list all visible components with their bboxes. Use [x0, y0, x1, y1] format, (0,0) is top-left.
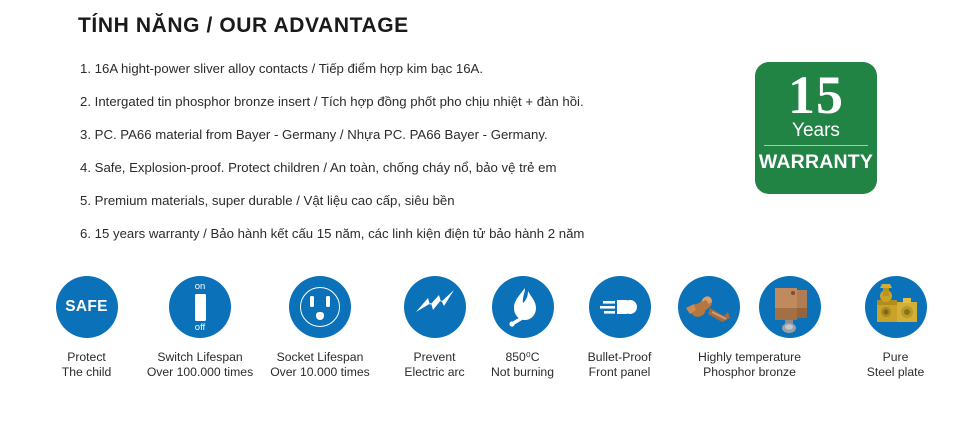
warranty-badge: 15 Years WARRANTY — [755, 62, 877, 194]
icon-caption-line2: The child — [24, 365, 149, 380]
icon-caption-line1: Protect — [24, 350, 149, 365]
socket-slot-right — [326, 296, 330, 307]
socket-ring — [300, 287, 340, 327]
brass-terminal-photo-icon — [865, 276, 927, 338]
icon-caption-line1: Highly temperature — [672, 350, 827, 365]
feature-icon-pure-steel-plate: Pure Steel plate — [838, 276, 953, 380]
feature-icon-socket-lifespan: Socket Lifespan Over 10.000 times — [255, 276, 385, 380]
power-socket-icon — [289, 276, 351, 338]
phosphor-bronze-photo-right — [759, 276, 821, 338]
warranty-label: WARRANTY — [759, 151, 873, 174]
flame-match-glyph — [492, 276, 554, 338]
icon-caption-line2: Over 10.000 times — [255, 365, 385, 380]
bullet-glyph — [589, 276, 651, 338]
flame-match-icon — [492, 276, 554, 338]
warranty-years-number: 15 — [788, 68, 844, 123]
icon-caption-line1: Pure — [838, 350, 953, 365]
icon-caption: Bullet-Proof Front panel — [557, 350, 682, 380]
feature-icon-phosphor-bronze: Highly temperature Phosphor bronze — [672, 276, 827, 380]
feature-icon-switch-lifespan: on off Switch Lifespan Over 100.000 time… — [135, 276, 265, 380]
socket-slot-left — [310, 296, 314, 307]
safe-badge-text: SAFE — [56, 276, 118, 338]
page-title: TÍNH NĂNG / OUR ADVANTAGE — [78, 14, 409, 38]
power-socket-glyph — [289, 276, 351, 338]
icon-caption: Switch Lifespan Over 100.000 times — [135, 350, 265, 380]
bronze-block-image — [759, 276, 821, 338]
feature-list: 1. 16A hight-power sliver alloy contacts… — [80, 62, 720, 260]
feature-item: 6. 15 years warranty / Bảo hành kết cấu … — [80, 227, 720, 242]
icon-caption: Socket Lifespan Over 10.000 times — [255, 350, 385, 380]
switch-lever — [195, 294, 206, 321]
feature-item: 2. Intergated tin phosphor bronze insert… — [80, 95, 720, 110]
feature-item: 1. 16A hight-power sliver alloy contacts… — [80, 62, 720, 77]
icon-caption-line2: Phosphor bronze — [672, 365, 827, 380]
switch-on-label: on — [195, 282, 206, 292]
bronze-contact-strip-image — [678, 276, 740, 338]
icon-caption-line1: Switch Lifespan — [135, 350, 265, 365]
feature-item: 5. Premium materials, super durable / Vậ… — [80, 194, 720, 209]
feature-item: 3. PC. PA66 material from Bayer - German… — [80, 128, 720, 143]
icon-caption-line1: Socket Lifespan — [255, 350, 385, 365]
safe-badge-icon: SAFE — [56, 276, 118, 338]
electric-arc-glyph — [404, 276, 466, 338]
brass-terminal-image — [865, 276, 927, 338]
feature-item: 4. Safe, Explosion-proof. Protect childr… — [80, 161, 720, 176]
warranty-years-label: Years — [792, 121, 840, 140]
on-off-switch-glyph: on off — [169, 276, 231, 338]
icon-caption: Pure Steel plate — [838, 350, 953, 380]
icon-caption-line2: Over 100.000 times — [135, 365, 265, 380]
icon-caption-line1: Bullet-Proof — [557, 350, 682, 365]
icon-caption-line2: Steel plate — [838, 365, 953, 380]
icon-caption: Highly temperature Phosphor bronze — [672, 350, 827, 380]
feature-icon-bullet-proof: Bullet-Proof Front panel — [557, 276, 682, 380]
feature-icon-row: SAFE Protect The child on off Switch Lif… — [0, 276, 975, 401]
switch-off-label: off — [195, 323, 205, 333]
warranty-divider — [764, 145, 868, 146]
bullet-icon — [589, 276, 651, 338]
on-off-switch-icon: on off — [169, 276, 231, 338]
electric-arc-icon — [404, 276, 466, 338]
feature-icon-protect-the-child: SAFE Protect The child — [24, 276, 149, 380]
phosphor-bronze-photo-icon — [672, 276, 827, 338]
phosphor-bronze-photo-left — [678, 276, 740, 338]
socket-ground-pin — [316, 312, 324, 320]
icon-caption-line2: Front panel — [557, 365, 682, 380]
icon-caption: Protect The child — [24, 350, 149, 380]
